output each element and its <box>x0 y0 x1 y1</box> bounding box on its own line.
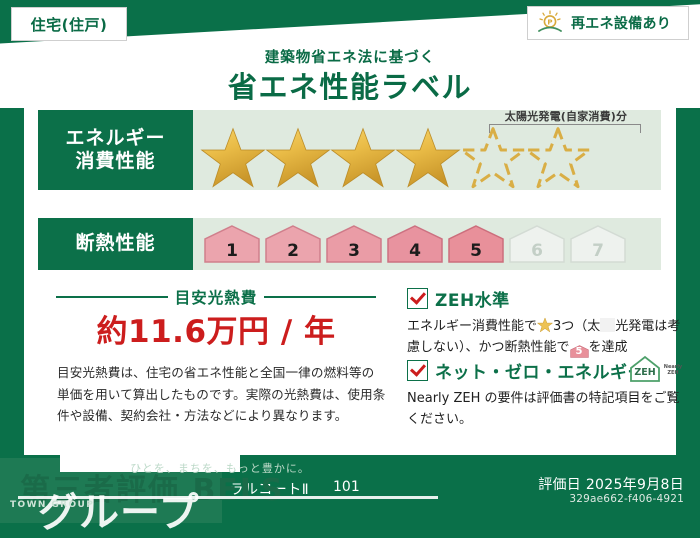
star-solar-5 <box>459 126 527 190</box>
insulation-performance-row: 断熱性能 1 2 3 4 <box>38 218 661 270</box>
house-type-tag: 住宅(住戸) <box>11 7 127 41</box>
insulation-level-7: 7 <box>569 224 627 264</box>
zeh-standard-block: ZEH水準 エネルギー消費性能で3つ（太光発電は考慮しない）、かつ断熱性能で5を… <box>407 286 687 359</box>
insulation-level-4-value: 4 <box>409 241 421 261</box>
star-filled-2 <box>264 126 332 190</box>
energy-star-rating: 太陽光発電(自家消費)分 <box>193 110 661 190</box>
sun-icon: P <box>535 10 565 36</box>
zeh-standard-body-pre: エネルギー消費性能で <box>407 319 537 334</box>
zeh-logo-icon: ZEH Nearly ZEH <box>625 354 689 384</box>
insulation-label-text: 断熱性能 <box>75 232 155 255</box>
energy-label-line2: 消費性能 <box>75 150 155 173</box>
cost-rule-left <box>56 296 168 298</box>
insulation-level-1-value: 1 <box>226 241 238 261</box>
insulation-level-5-value: 5 <box>470 241 482 261</box>
zeh-netzero-block: ネット・ゼロ・エネルギー ZEH Nearly ZEH Nearly ZEH の… <box>407 358 687 430</box>
insulation-level-3: 3 <box>325 224 383 264</box>
renewable-equipment-tag: P 再エネ設備あり <box>527 6 689 40</box>
zeh-standard-body-post: を達成 <box>589 340 628 355</box>
property-name: セントラルコートⅡ <box>186 479 309 499</box>
footer-bar: セントラルコートⅡ 101 評価日 2025年9月8日 329ae662-f40… <box>0 465 700 523</box>
zeh-netzero-body: Nearly ZEH の要件は評価書の特記項目をご覧ください。 <box>407 388 687 430</box>
insulation-level-4: 4 <box>386 224 444 264</box>
redacted-character <box>600 318 615 332</box>
property-unit: 101 <box>333 479 360 495</box>
inline-star-icon <box>537 317 553 333</box>
cost-rule-right <box>264 296 376 298</box>
insulation-level-6-value: 6 <box>531 241 543 261</box>
solar-portion-bracket <box>489 124 641 133</box>
solar-portion-note: 太陽光発電(自家消費)分 <box>486 108 646 124</box>
star-solar-6 <box>524 126 592 190</box>
svg-text:ZEH: ZEH <box>667 370 678 376</box>
insulation-performance-label: 断熱性能 <box>38 218 193 270</box>
zeh-standard-checkbox[interactable] <box>407 288 428 309</box>
insulation-level-3-value: 3 <box>348 241 360 261</box>
insulation-level-1: 1 <box>203 224 261 264</box>
insulation-level-scale: 1 2 3 4 5 <box>193 218 661 270</box>
utility-cost-amount: 約11.6万円 / 年 <box>56 306 376 351</box>
renewable-equipment-label: 再エネ設備あり <box>571 13 671 33</box>
zeh-netzero-title: ネット・ゼロ・エネルギー <box>435 358 645 383</box>
zeh-standard-title: ZEH水準 <box>435 286 510 311</box>
evaluation-date: 評価日 2025年9月8日 <box>538 474 684 494</box>
zeh-logo-main: ZEH <box>634 367 655 378</box>
document-id: 329ae662-f406-4921 <box>569 493 684 505</box>
cost-heading-text: 目安光熱費 <box>175 286 258 308</box>
insulation-level-2: 2 <box>264 224 322 264</box>
svg-text:P: P <box>547 19 552 27</box>
insulation-level-2-value: 2 <box>287 241 299 261</box>
star-filled-4 <box>394 126 462 190</box>
insulation-level-6: 6 <box>508 224 566 264</box>
energy-performance-row: エネルギー 消費性能 太陽光発電(自家消費)分 <box>38 110 661 190</box>
star-filled-3 <box>329 126 397 190</box>
insulation-level-5: 5 <box>447 224 505 264</box>
utility-cost-description: 目安光熱費は、住宅の省エネ性能と全国一律の燃料等の単価を用いて算出したものです。… <box>57 362 387 427</box>
utility-cost-heading: 目安光熱費 <box>56 286 376 308</box>
zeh-standard-body-mid: 3つ（太 <box>553 319 600 334</box>
insulation-level-7-value: 7 <box>592 241 604 261</box>
zeh-standard-heading: ZEH水準 <box>407 286 687 311</box>
label-title: 省エネ性能ラベル <box>0 64 700 106</box>
inline-insulation-badge: 5 <box>570 344 589 359</box>
label-card: エネルギー 消費性能 太陽光発電(自家消費)分 <box>24 100 676 455</box>
star-filled-1 <box>199 126 267 190</box>
energy-label-root: 住宅(住戸) P 再エネ設備あり 建築物省エネ法に基づく 省エネ性能ラベル エネ… <box>0 0 700 523</box>
zeh-netzero-checkbox[interactable] <box>407 360 428 381</box>
zeh-netzero-heading: ネット・ゼロ・エネルギー ZEH Nearly ZEH <box>407 358 687 383</box>
energy-performance-label: エネルギー 消費性能 <box>38 110 193 190</box>
zeh-standard-body: エネルギー消費性能で3つ（太光発電は考慮しない）、かつ断熱性能で5を達成 <box>407 316 687 359</box>
energy-label-line1: エネルギー <box>65 127 165 150</box>
house-type-label: 住宅(住戸) <box>31 14 108 35</box>
inline-insulation-value: 5 <box>570 344 589 360</box>
